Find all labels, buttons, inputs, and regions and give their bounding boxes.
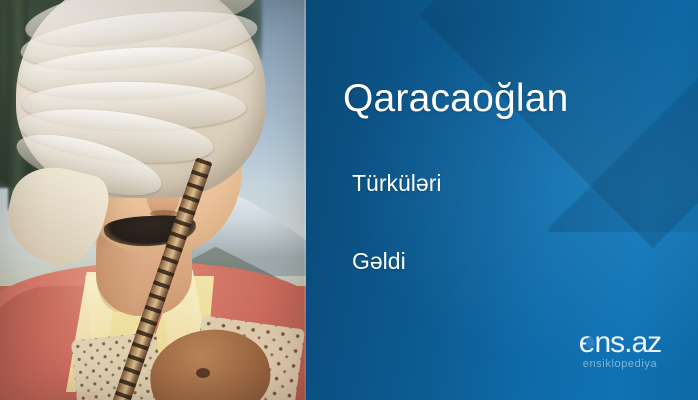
page-title: Qaracaoğlan [343, 78, 569, 121]
video-title-card: Qaracaoğlan Türküləri Gəldi ens.az ensik… [0, 0, 698, 400]
portrait-image [0, 0, 306, 400]
logo-tagline: ensiklopediya [560, 359, 680, 370]
saz-soundhole [196, 368, 210, 378]
subtitle-line-2: Gəldi [352, 248, 406, 275]
logo-wordmark: ens.az [560, 328, 680, 358]
logo-dot-icon [586, 337, 594, 348]
ens-az-logo[interactable]: ens.az ensiklopediya [560, 328, 680, 374]
blue-title-panel: Qaracaoğlan Türküləri Gəldi ens.az ensik… [306, 0, 698, 400]
subtitle-line-1: Türküləri [352, 170, 441, 197]
